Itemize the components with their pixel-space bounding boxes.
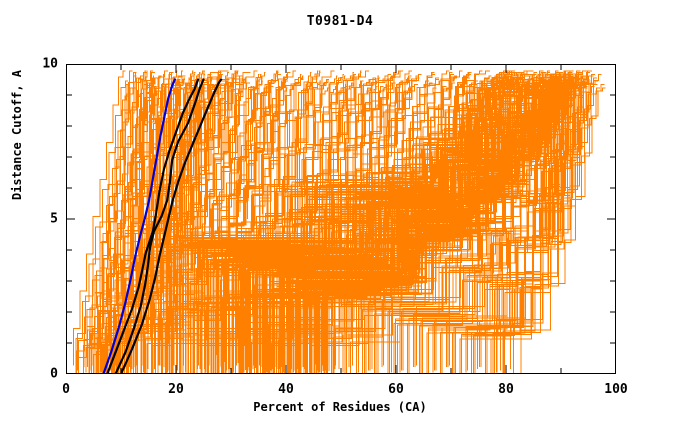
- plot-canvas: [66, 64, 616, 374]
- y-tick-label: 0: [32, 367, 58, 382]
- x-tick-label: 100: [604, 382, 627, 397]
- x-axis-label: Percent of Residues (CA): [0, 400, 680, 414]
- chart-figure: T0981-D4 Distance Cutoff, A Percent of R…: [0, 0, 680, 440]
- series-layer: [73, 71, 605, 374]
- x-tick-label: 20: [168, 382, 184, 397]
- y-axis-label: Distance Cutoff, A: [10, 0, 24, 285]
- x-tick-label: 80: [498, 382, 514, 397]
- x-tick-label: 60: [388, 382, 404, 397]
- plot-area: [66, 64, 616, 374]
- x-tick-label: 0: [62, 382, 70, 397]
- x-tick-label: 40: [278, 382, 294, 397]
- y-tick-label: 5: [32, 212, 58, 227]
- page-title: T0981-D4: [0, 14, 680, 29]
- y-tick-label: 10: [32, 57, 58, 72]
